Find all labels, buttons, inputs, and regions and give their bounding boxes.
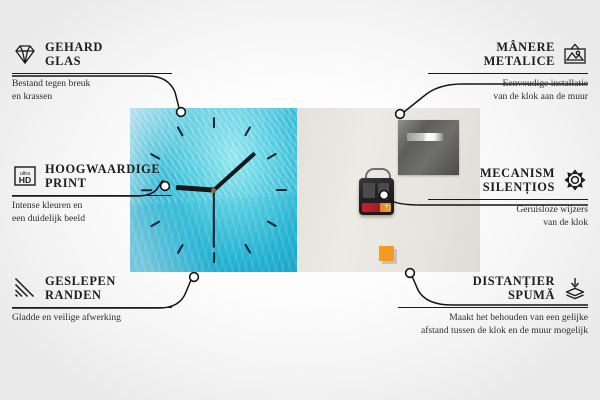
feature-description: Geruisloze wijzersvan de klok <box>428 204 588 228</box>
battery: + <box>362 203 391 212</box>
feature-header: ultra HD HOOGWAARDIGEPRINT <box>12 162 172 191</box>
feature-mecanism-silentios: MECANISMSILENȚIOS Geruisloze wijzersvan … <box>428 166 588 229</box>
gear-icon <box>562 168 588 192</box>
feature-hoogwaardige-print: ultra HD HOOGWAARDIGEPRINT Intense kleur… <box>12 162 172 225</box>
feature-header: MECANISMSILENȚIOS <box>428 166 588 195</box>
feature-manere-metalice: MÂNEREMETALICE Eenvoudige installatievan… <box>428 40 588 103</box>
feature-title: HOOGWAARDIGEPRINT <box>45 162 160 191</box>
feature-rule <box>428 73 588 75</box>
movement-slot-c <box>382 197 389 200</box>
clock-tick <box>276 189 287 191</box>
bevelled-edge-icon <box>12 276 38 300</box>
diamond-icon <box>12 42 38 66</box>
feature-description: Gladde en veilige afwerking <box>12 312 172 324</box>
ultra-hd-icon: ultra HD <box>12 164 38 188</box>
feature-header: GEHARDGLAS <box>12 40 172 69</box>
feature-description: Intense kleuren eneen duidelijk beeld <box>12 200 172 224</box>
feature-rule <box>12 307 172 309</box>
feature-rule <box>398 307 588 309</box>
feature-distantier-spuma: DISTANȚIERSPUMĂ Maakt het behouden van e… <box>398 274 588 337</box>
feature-title: GESLEPENRANDEN <box>45 274 116 303</box>
feature-title: DISTANȚIERSPUMĂ <box>473 274 555 303</box>
feature-rule <box>428 199 588 201</box>
feature-rule <box>12 195 172 197</box>
clock-second-hand <box>213 190 215 248</box>
infographic-canvas: + <box>0 0 600 400</box>
feature-description: Eenvoudige installatievan de klok aan de… <box>428 78 588 102</box>
hanger-slot <box>407 133 443 141</box>
feature-title: MÂNEREMETALICE <box>484 40 555 69</box>
feature-rule <box>12 73 172 75</box>
clock-hand-hub <box>211 188 216 193</box>
feature-gehard-glas: GEHARDGLAS Bestand tegen breuken krassen <box>12 40 172 103</box>
feature-header: MÂNEREMETALICE <box>428 40 588 69</box>
foam-spacer <box>379 246 394 261</box>
framed-picture-icon <box>562 42 588 66</box>
feature-geslepen-randen: GESLEPENRANDEN Gladde en veilige afwerki… <box>12 274 172 325</box>
clock-movement: + <box>359 178 394 215</box>
feature-title: MECANISMSILENȚIOS <box>480 166 555 195</box>
movement-slot-a <box>363 183 375 198</box>
connector-dot-geslepen-randen <box>190 273 199 282</box>
feature-header: DISTANȚIERSPUMĂ <box>398 274 588 303</box>
movement-slot-b <box>378 183 389 194</box>
feature-description: Bestand tegen breuken krassen <box>12 78 172 102</box>
clock-tick <box>212 252 214 263</box>
spacer-arrow-icon <box>562 276 588 300</box>
battery-plus-label: + <box>384 204 389 210</box>
clock-tick <box>212 117 214 128</box>
svg-text:HD: HD <box>19 175 31 185</box>
feature-header: GESLEPENRANDEN <box>12 274 172 303</box>
feature-title: GEHARDGLAS <box>45 40 103 69</box>
feature-description: Maakt het behouden van een gelijkeafstan… <box>398 312 588 336</box>
